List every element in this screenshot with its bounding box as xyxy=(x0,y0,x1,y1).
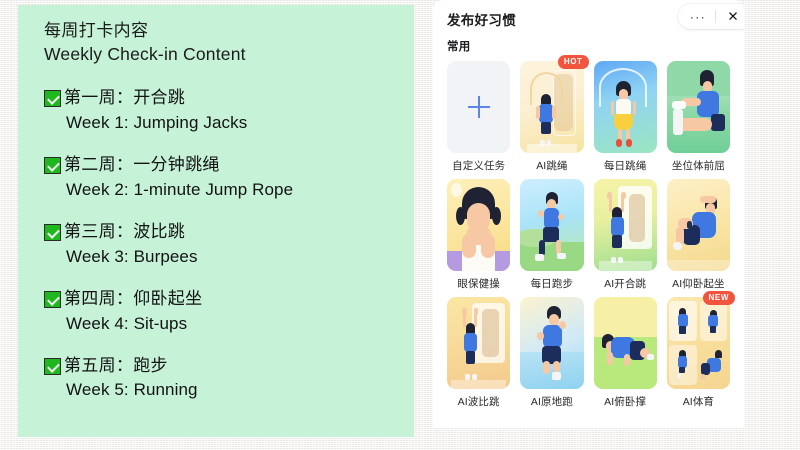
habit-card[interactable]: HOT AI跳绳 xyxy=(520,61,583,173)
habit-thumbnail[interactable] xyxy=(667,179,730,271)
window-controls: ··· ✕ xyxy=(678,4,744,29)
habit-illustration xyxy=(594,297,657,389)
week-label-cn: 第三周：波比跳 xyxy=(64,222,185,243)
habit-label: AI原地跑 xyxy=(520,394,583,409)
habit-thumbnail[interactable] xyxy=(447,297,510,389)
plus-icon xyxy=(468,96,490,118)
checkbox-checked[interactable] xyxy=(44,224,61,241)
habit-illustration xyxy=(594,179,657,271)
week-row: 第二周：一分钟跳绳 xyxy=(44,155,414,176)
checkbox-checked[interactable] xyxy=(44,358,61,375)
habit-label: AI波比跳 xyxy=(447,394,510,409)
habit-thumbnail[interactable] xyxy=(667,61,730,153)
habit-card[interactable]: 每日跑步 xyxy=(520,179,583,291)
habit-card[interactable]: AI俯卧撑 xyxy=(594,297,657,409)
habit-illustration xyxy=(594,61,657,153)
habit-illustration xyxy=(667,61,730,153)
section-label-common: 常用 xyxy=(447,38,730,54)
checkbox-checked[interactable] xyxy=(44,90,61,107)
habit-thumbnail[interactable] xyxy=(594,61,657,153)
habit-card[interactable]: 自定义任务 xyxy=(447,61,510,173)
habit-card[interactable]: NEW AI体育 xyxy=(667,297,730,409)
habit-illustration xyxy=(447,297,510,389)
week-label-cn: 第二周：一分钟跳绳 xyxy=(64,155,220,176)
habit-label: AI俯卧撑 xyxy=(594,394,657,409)
habit-card[interactable]: 眼保健操 xyxy=(447,179,510,291)
habit-card[interactable]: AI波比跳 xyxy=(447,297,510,409)
week-label-cn: 第五周：跑步 xyxy=(64,356,168,377)
habit-label: 自定义任务 xyxy=(447,158,510,173)
publish-habit-sheet: 发布好习惯 常用 ··· ✕ 自定义任务HOT AI跳绳 xyxy=(433,0,744,428)
habit-thumbnail[interactable] xyxy=(520,179,583,271)
week-item: 第一周：开合跳Week 1: Jumping Jacks xyxy=(44,88,414,134)
habit-label: AI仰卧起坐 xyxy=(667,276,730,291)
week-row: 第三周：波比跳 xyxy=(44,222,414,243)
habit-label: AI跳绳 xyxy=(520,158,583,173)
habit-illustration xyxy=(520,179,583,271)
habit-card[interactable]: AI仰卧起坐 xyxy=(667,179,730,291)
week-row: 第五周：跑步 xyxy=(44,356,414,377)
habit-illustration xyxy=(520,297,583,389)
week-label-cn: 第四周：仰卧起坐 xyxy=(64,289,202,310)
week-row: 第四周：仰卧起坐 xyxy=(44,289,414,310)
habit-grid: 自定义任务HOT AI跳绳 每日跳绳 xyxy=(433,54,744,409)
habit-illustration xyxy=(667,179,730,271)
habit-thumbnail[interactable] xyxy=(447,61,510,153)
week-label-cn: 第一周：开合跳 xyxy=(64,88,185,109)
habit-card[interactable]: 坐位体前屈 xyxy=(667,61,730,173)
week-label-en: Week 4: Sit-ups xyxy=(66,313,414,335)
sheet-header: 发布好习惯 常用 ··· ✕ xyxy=(433,0,744,54)
habit-illustration xyxy=(520,61,583,153)
more-options-icon[interactable]: ··· xyxy=(678,4,715,29)
habit-thumbnail[interactable] xyxy=(594,297,657,389)
screenshot-canvas: 每周打卡内容 Weekly Check-in Content 第一周：开合跳We… xyxy=(0,0,800,450)
page-title-cn: 每周打卡内容 xyxy=(44,19,414,42)
week-label-en: Week 3: Burpees xyxy=(66,246,414,268)
habit-card[interactable]: AI原地跑 xyxy=(520,297,583,409)
week-item: 第四周：仰卧起坐Week 4: Sit-ups xyxy=(44,289,414,335)
habit-card[interactable]: 每日跳绳 xyxy=(594,61,657,173)
habit-label: 眼保健操 xyxy=(447,276,510,291)
checkbox-checked[interactable] xyxy=(44,291,61,308)
habit-label: AI体育 xyxy=(667,394,730,409)
habit-thumbnail[interactable] xyxy=(447,179,510,271)
new-badge: NEW xyxy=(703,291,735,305)
week-item: 第五周：跑步Week 5: Running xyxy=(44,356,414,402)
hot-badge: HOT xyxy=(558,55,589,69)
week-label-en: Week 2: 1-minute Jump Rope xyxy=(66,179,414,201)
weekly-checkin-panel: 每周打卡内容 Weekly Check-in Content 第一周：开合跳We… xyxy=(18,5,414,437)
habit-label: 每日跑步 xyxy=(520,276,583,291)
habit-card[interactable]: AI开合跳 xyxy=(594,179,657,291)
close-icon[interactable]: ✕ xyxy=(716,4,744,29)
week-item: 第二周：一分钟跳绳Week 2: 1-minute Jump Rope xyxy=(44,155,414,201)
week-item: 第三周：波比跳Week 3: Burpees xyxy=(44,222,414,268)
habit-illustration xyxy=(667,297,730,389)
habit-label: AI开合跳 xyxy=(594,276,657,291)
habit-thumbnail[interactable] xyxy=(520,61,583,153)
habit-thumbnail[interactable] xyxy=(667,297,730,389)
habit-illustration xyxy=(447,179,510,271)
page-title-en: Weekly Check-in Content xyxy=(44,42,414,67)
week-label-en: Week 5: Running xyxy=(66,379,414,401)
habit-thumbnail[interactable] xyxy=(594,179,657,271)
week-list: 第一周：开合跳Week 1: Jumping Jacks第二周：一分钟跳绳Wee… xyxy=(44,88,414,401)
week-row: 第一周：开合跳 xyxy=(44,88,414,109)
habit-label: 坐位体前屈 xyxy=(667,158,730,173)
habit-label: 每日跳绳 xyxy=(594,158,657,173)
week-label-en: Week 1: Jumping Jacks xyxy=(66,112,414,134)
checkbox-checked[interactable] xyxy=(44,157,61,174)
habit-thumbnail[interactable] xyxy=(520,297,583,389)
